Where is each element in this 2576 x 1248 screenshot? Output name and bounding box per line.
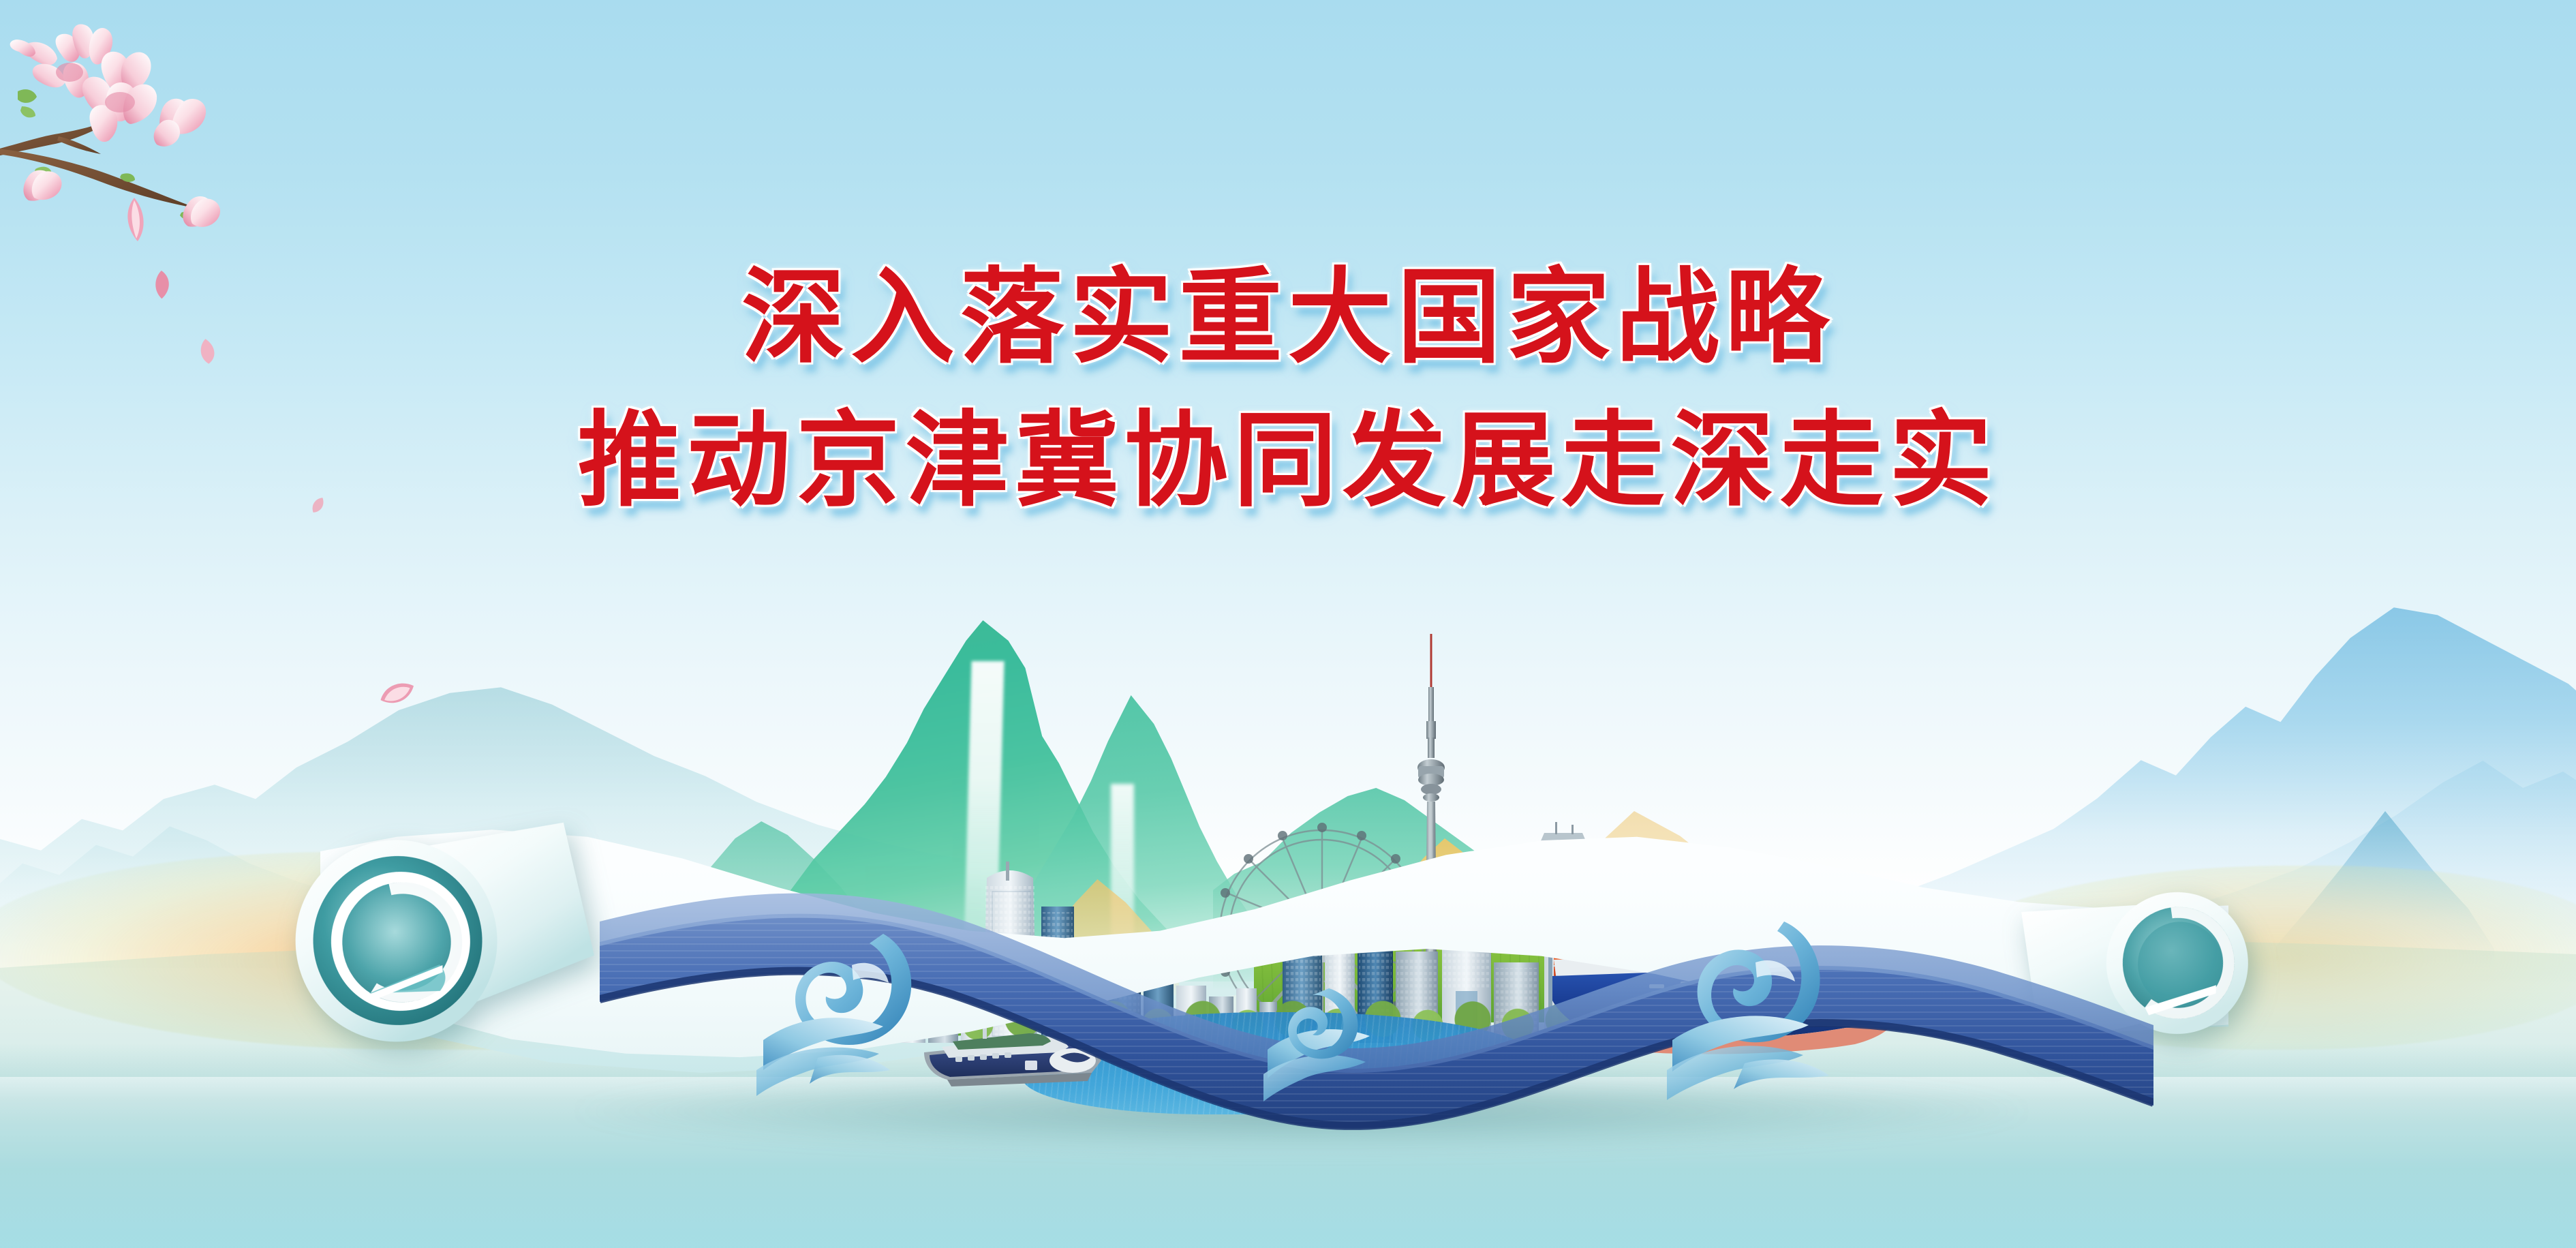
poster-banner: 深入落实重大国家战略 推动京津冀协同发展走深走实 bbox=[0, 0, 2576, 1248]
wave-swirl-icon bbox=[750, 913, 954, 1111]
headline-line-2: 推动京津冀协同发展走深走实 bbox=[0, 409, 2576, 513]
wave-swirl-icon bbox=[1663, 907, 1867, 1111]
headline-line-1: 深入落实重大国家战略 bbox=[0, 266, 2576, 369]
magnolia-branch-icon bbox=[0, 7, 313, 300]
page-title: 深入落实重大国家战略 推动京津冀协同发展走深走实 bbox=[0, 266, 2576, 513]
wave-swirl-icon bbox=[1254, 947, 1411, 1104]
scroll-roll-icon bbox=[2020, 871, 2267, 1071]
